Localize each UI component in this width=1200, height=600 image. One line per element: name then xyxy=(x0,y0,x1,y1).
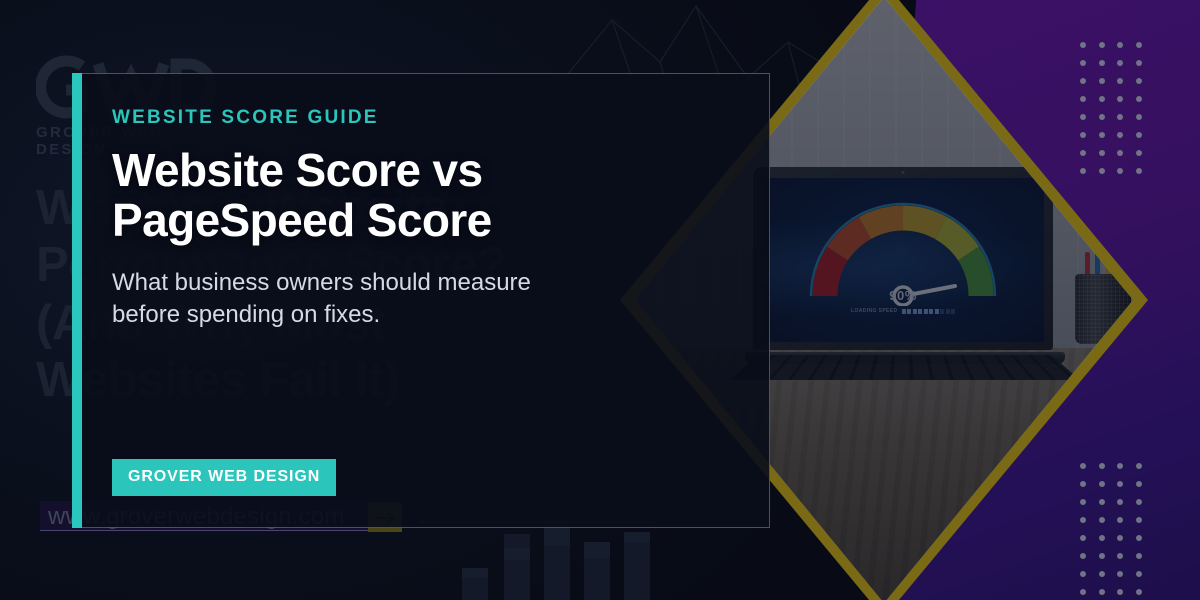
page-title: Website Score vs PageSpeed Score xyxy=(112,146,692,245)
card-content: WEBSITE SCORE GUIDE Website Score vs Pag… xyxy=(112,73,692,331)
teal-accent-bar xyxy=(72,73,82,528)
subheading: What business owners should measure befo… xyxy=(112,267,692,331)
bar-chart-watermark xyxy=(420,520,650,600)
eyebrow-label: WEBSITE SCORE GUIDE xyxy=(112,107,692,129)
brand-badge: GROVER WEB DESIGN xyxy=(112,459,336,496)
social-card-canvas: What Is A Website Performance Score? (An… xyxy=(0,0,1200,600)
